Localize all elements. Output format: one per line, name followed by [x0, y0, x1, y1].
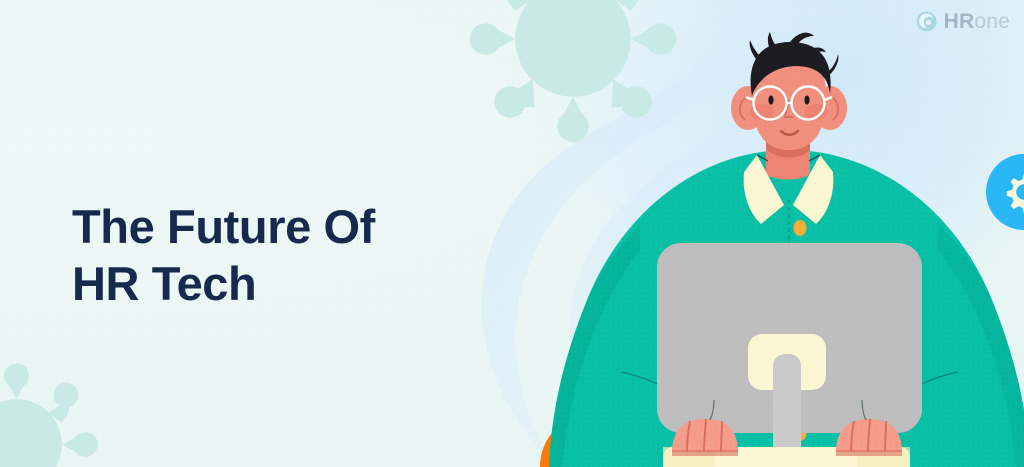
hrone-logo[interactable]: HRone — [916, 11, 1010, 32]
gear-icon — [999, 167, 1024, 217]
logo-text-one: one — [974, 10, 1010, 33]
page-title: The Future Of HR Tech — [72, 199, 512, 313]
hero-banner: The Future Of HR Tech HRone — [0, 0, 1024, 467]
hrone-logo-text: HRone — [944, 11, 1010, 32]
hrone-swirl-icon — [916, 11, 937, 32]
logo-text-hr: HR — [944, 10, 975, 33]
